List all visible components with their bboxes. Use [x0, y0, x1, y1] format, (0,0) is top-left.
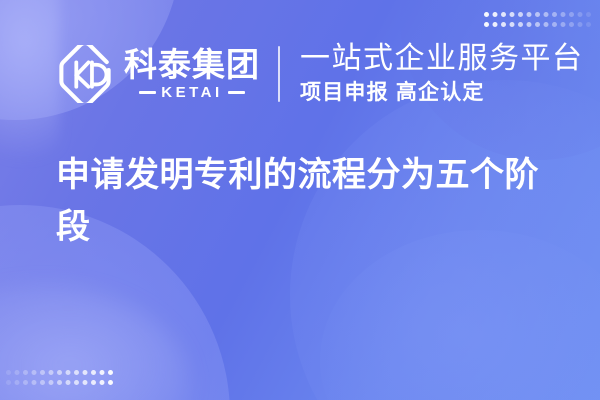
logo-name-cn: 科泰集团	[124, 48, 260, 81]
company-logo[interactable]: 科泰集团 KETAI	[56, 45, 260, 103]
tagline-main: 一站式企业服务平台	[300, 41, 584, 76]
dash-left-icon	[139, 91, 156, 94]
ketai-kd-diamond-logo-icon	[56, 45, 114, 103]
banner-header: 科泰集团 KETAI 一站式企业服务平台 项目申报 高企认定	[0, 0, 600, 148]
dot-grid-bottom-left	[6, 370, 118, 388]
bottom-right-glow-shape	[320, 230, 600, 400]
tagline-sub: 项目申报 高企认定	[300, 79, 584, 107]
logo-name-latin: KETAI	[161, 85, 222, 100]
vertical-divider-icon	[278, 46, 280, 102]
logo-latin-row: KETAI	[124, 85, 260, 100]
dash-right-icon	[228, 91, 245, 94]
promo-banner: 科泰集团 KETAI 一站式企业服务平台 项目申报 高企认定 申请发明专利的流程…	[0, 0, 600, 400]
page-title: 申请发明专利的流程分为五个阶段	[56, 150, 546, 253]
tagline-block: 一站式企业服务平台 项目申报 高企认定	[300, 41, 584, 108]
logo-wordmark: 科泰集团 KETAI	[124, 48, 260, 100]
